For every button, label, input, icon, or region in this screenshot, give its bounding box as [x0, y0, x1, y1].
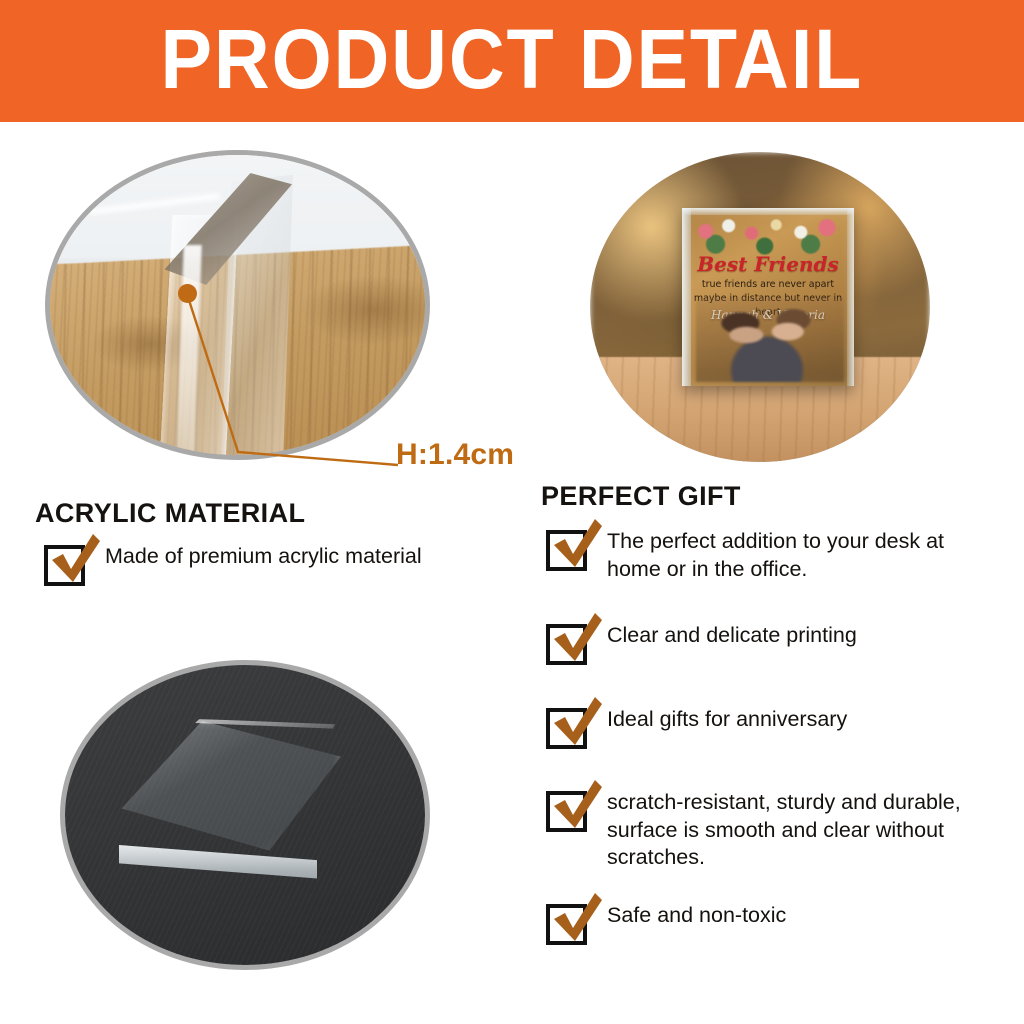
- plaque-portrait-photo: [696, 298, 844, 382]
- checklist-item-label: scratch-resistant, sturdy and durable, s…: [607, 789, 996, 872]
- plaque-title: Best Friends: [682, 252, 854, 276]
- product-photo-flat-view: [60, 660, 430, 970]
- product-photo-plaque-view: Best Friends true friends are never apar…: [590, 152, 930, 462]
- checkbox-checked: [546, 791, 587, 832]
- checklist-item-label: Made of premium acrylic material: [105, 543, 422, 571]
- checkmark-icon: [548, 778, 606, 836]
- checkbox-checked: [546, 530, 587, 571]
- checklist-item: scratch-resistant, sturdy and durable, s…: [546, 789, 996, 872]
- header-banner: PRODUCT DETAIL: [0, 0, 1024, 122]
- plaque-edge-top: [682, 208, 854, 215]
- checkmark-icon: [548, 611, 606, 669]
- wood-table-scene: [50, 155, 425, 455]
- dimension-callout-dot: [178, 284, 197, 303]
- section-heading-acrylic-material: ACRYLIC MATERIAL: [35, 498, 305, 529]
- checkmark-icon: [548, 891, 606, 949]
- acrylic-plaque: Best Friends true friends are never apar…: [682, 208, 854, 386]
- checklist-item: Clear and delicate printing: [546, 622, 986, 665]
- plaque-edge-left: [682, 208, 691, 386]
- checklist-item-label: The perfect addition to your desk at hom…: [607, 528, 986, 583]
- dimension-label: H:1.4cm: [396, 438, 514, 472]
- checklist-item: Made of premium acrylic material: [44, 543, 514, 586]
- page-title: PRODUCT DETAIL: [161, 17, 864, 101]
- checkbox-checked: [546, 708, 587, 749]
- plaque-edge-right: [847, 208, 854, 386]
- section-heading-perfect-gift: PERFECT GIFT: [541, 481, 741, 512]
- checklist-item-label: Ideal gifts for anniversary: [607, 706, 847, 734]
- checkmark-icon: [548, 695, 606, 753]
- checklist-item: The perfect addition to your desk at hom…: [546, 528, 986, 583]
- checkbox-checked: [546, 904, 587, 945]
- checkmark-icon: [46, 532, 104, 590]
- checkbox-checked: [44, 545, 85, 586]
- plaque-quote-line-1: true friends are never apart: [690, 278, 846, 292]
- checklist-item: Ideal gifts for anniversary: [546, 706, 986, 749]
- checklist-item-label: Safe and non-toxic: [607, 902, 786, 930]
- slate-surface-scene: [65, 665, 425, 965]
- checklist-item: Safe and non-toxic: [546, 902, 986, 945]
- checkbox-checked: [546, 624, 587, 665]
- wall-light-streak: [90, 193, 220, 215]
- product-photo-edge-view: [45, 150, 430, 460]
- acrylic-block-front-edge: [117, 845, 317, 899]
- checkmark-icon: [548, 517, 606, 575]
- checklist-item-label: Clear and delicate printing: [607, 622, 857, 650]
